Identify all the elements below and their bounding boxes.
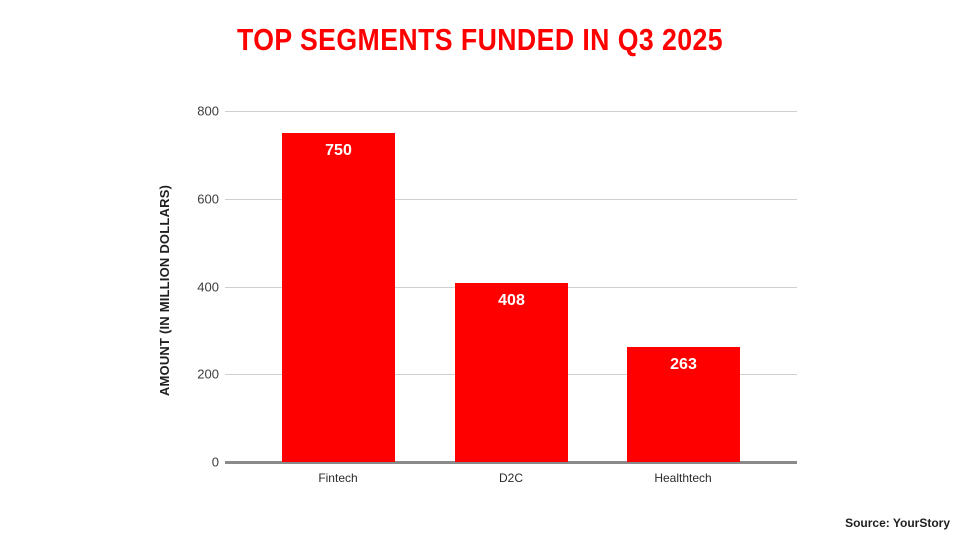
x-tick-label-d2c: D2C xyxy=(431,471,591,485)
y-tick-label-200: 200 xyxy=(159,367,219,382)
x-tick-label-healthtech: Healthtech xyxy=(603,471,763,485)
plot-area: 750 408 263 xyxy=(225,111,797,462)
bar-chart: AMOUNT (IN MILLION DOLLARS) 800 600 400 … xyxy=(0,0,960,540)
bar-value-fintech: 750 xyxy=(282,142,395,160)
y-tick-label-600: 600 xyxy=(159,191,219,206)
gridline-800 xyxy=(225,111,797,112)
y-tick-label-400: 400 xyxy=(159,279,219,294)
bar-d2c[interactable]: 408 xyxy=(455,283,568,462)
y-tick-label-800: 800 xyxy=(159,104,219,119)
y-tick-label-0: 0 xyxy=(159,455,219,470)
bar-value-healthtech: 263 xyxy=(627,356,740,374)
bar-value-d2c: 408 xyxy=(455,292,568,310)
x-tick-label-fintech: Fintech xyxy=(258,471,418,485)
bar-healthtech[interactable]: 263 xyxy=(627,347,740,462)
source-note: Source: YourStory xyxy=(845,516,950,530)
bar-fintech[interactable]: 750 xyxy=(282,133,395,462)
